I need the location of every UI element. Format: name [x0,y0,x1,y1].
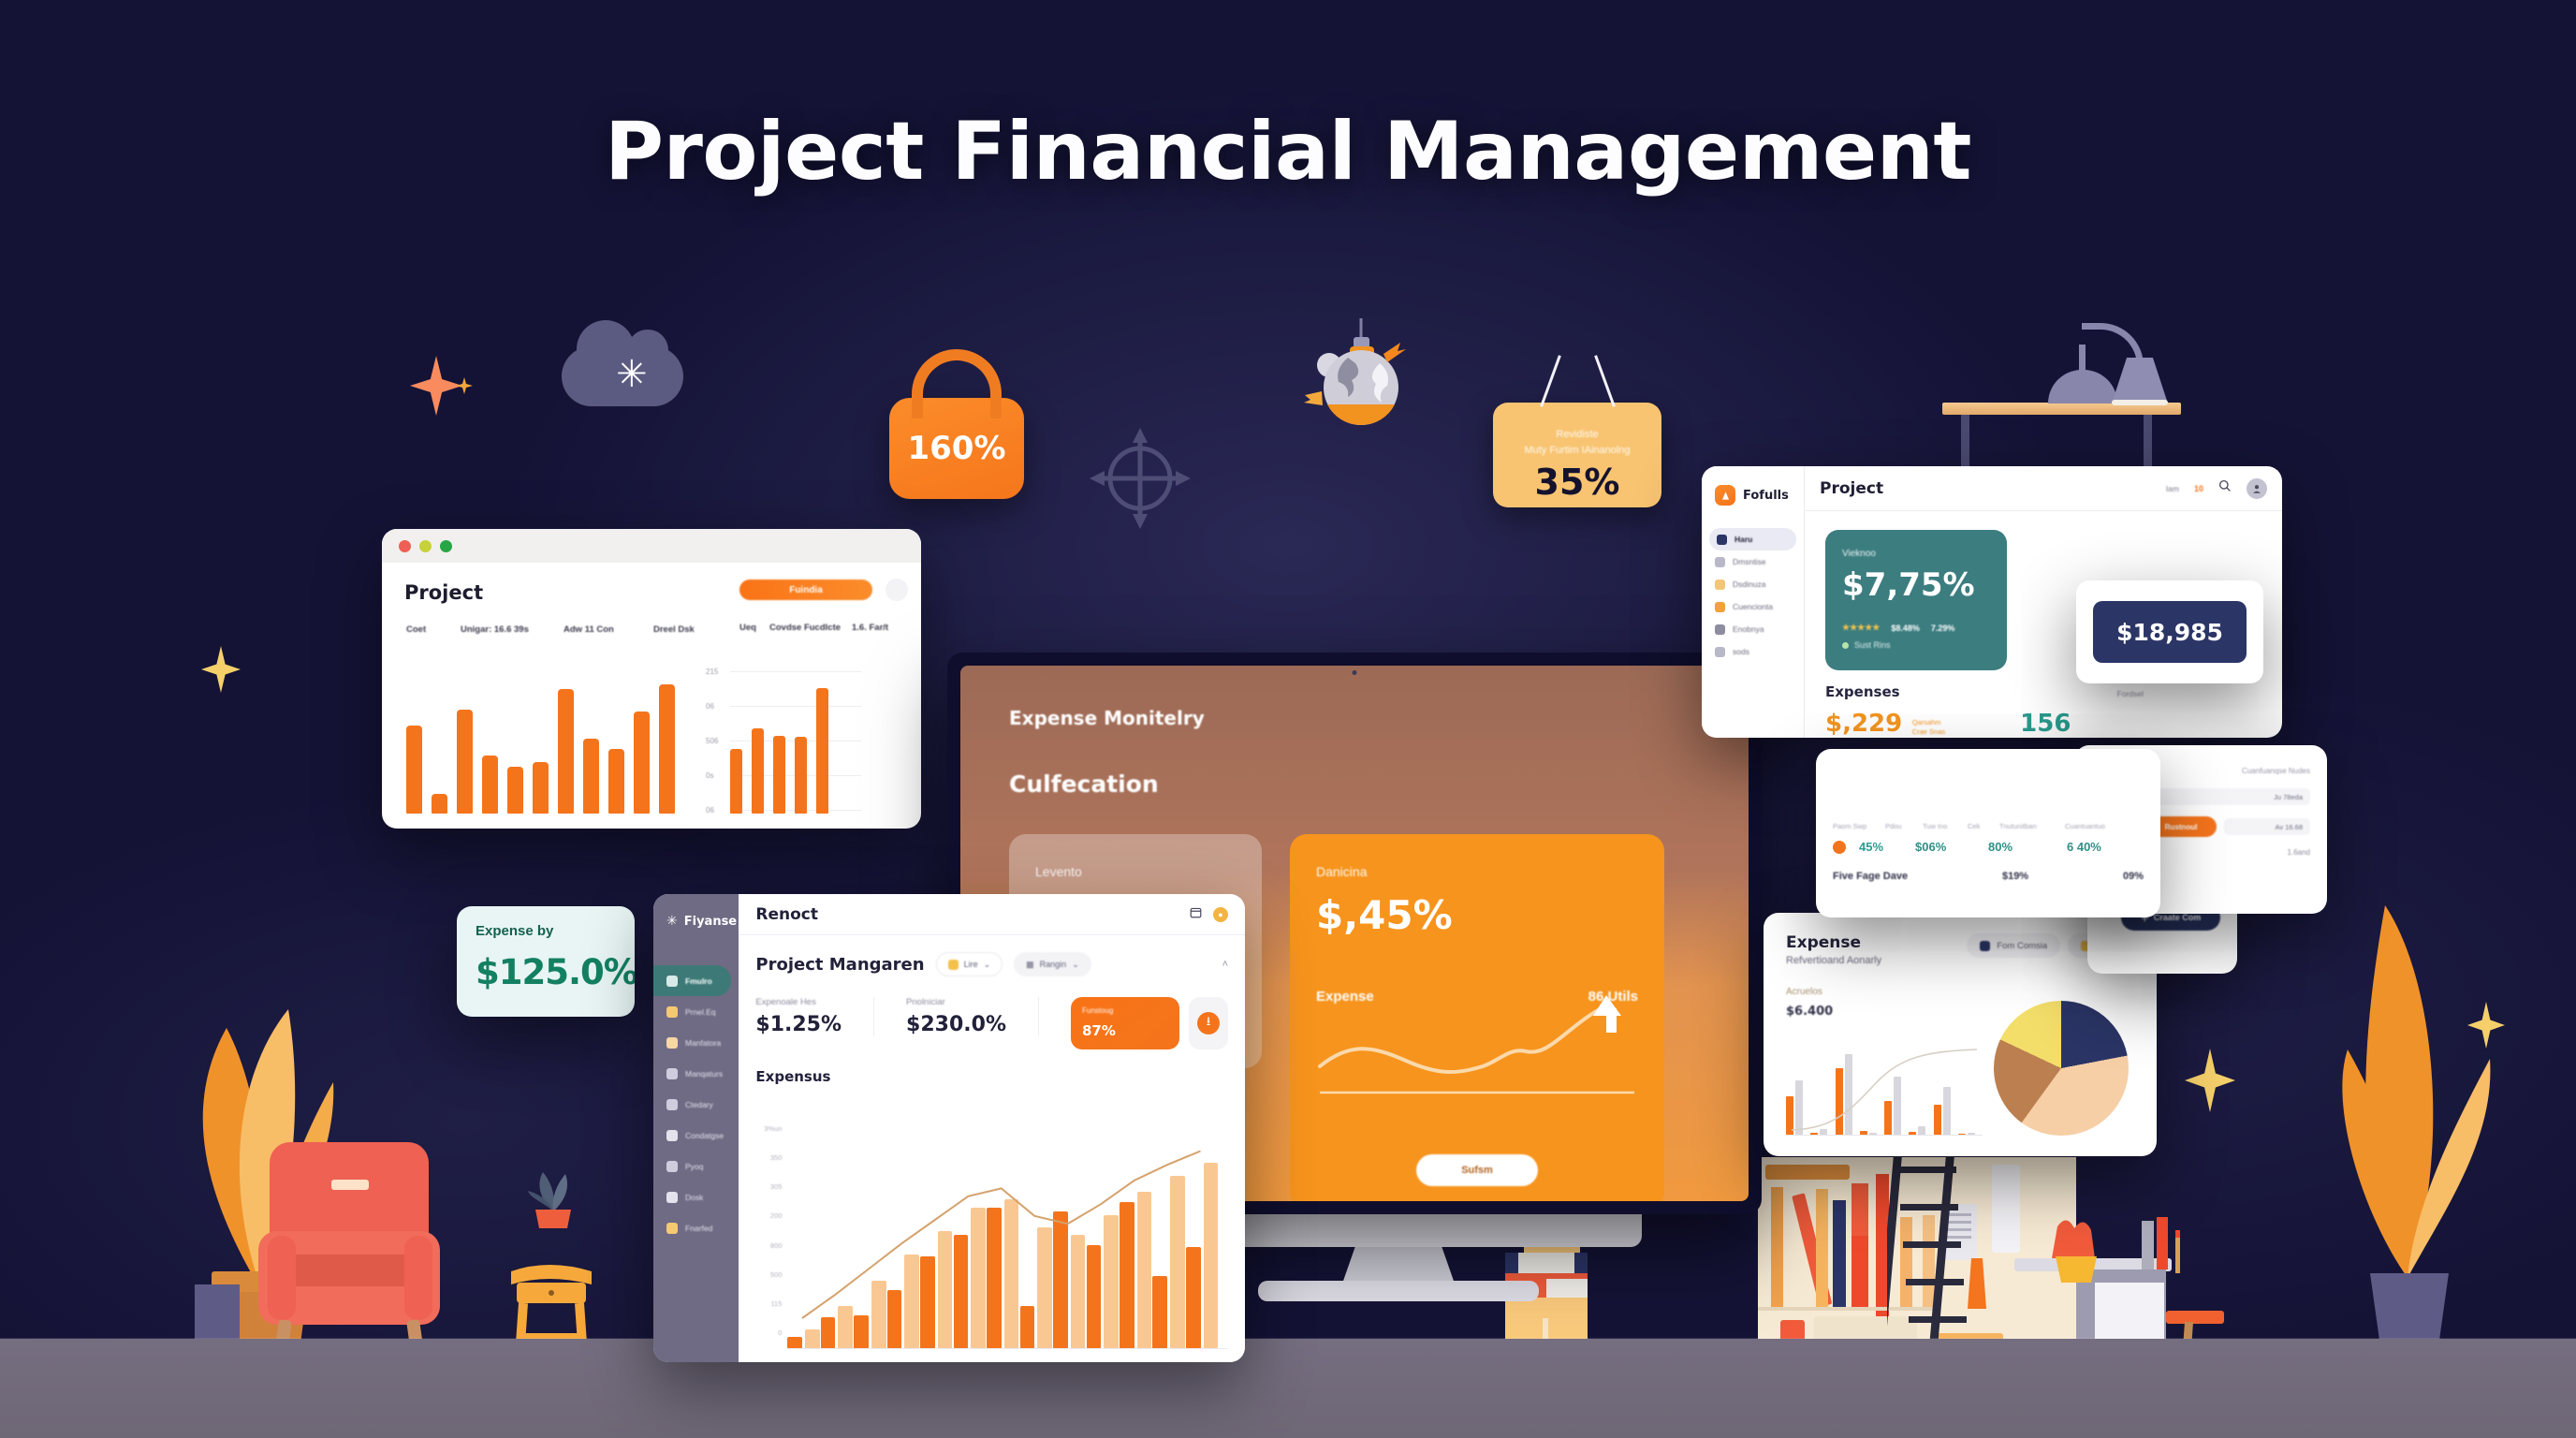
status-dot [1833,841,1846,854]
mac-window-card[interactable]: Project Fuindia Coet Unigar: 16.6 39s Ad… [382,529,921,829]
floor [0,1339,2576,1438]
y-tick-label: 200 [750,1211,782,1220]
bar-Trend [1004,1199,1019,1349]
report-top-title: Renoct [755,905,818,924]
report-topbar: Renoct ● [739,894,1245,935]
sidebar-item-label: Dmsntise [1733,557,1765,566]
expense-bar-chart [1786,1046,1983,1136]
sidebar-item-label: Dsdinuza [1733,580,1765,589]
kpi-label: Expenoale Hes [755,997,842,1007]
fuindia-button[interactable]: Fuindia [739,580,872,600]
column-header: 1.6. Far/t [852,623,888,633]
y-tick-label: 3%un [750,1124,782,1133]
trend-line-chart [1316,993,1638,1115]
sidebar-item-0[interactable]: Haru [1709,528,1796,550]
report-kpis: Expenoale Hes $1.25% Pnolniciar $230.0% … [739,976,1245,1049]
create-button-label: Craate Com [2154,913,2202,922]
bar-chart-left [406,671,687,814]
download-icon: ⭳ [1197,1012,1220,1034]
sidebar-item-3[interactable]: Cuencionta [1702,595,1804,618]
potted-plant-icon [2265,885,2546,1367]
bar [432,794,447,814]
calendar-icon[interactable] [1190,906,1202,923]
report-bar-chart: 3%un3503052008005001150 [787,1124,1228,1349]
y-tick-label: 0s [706,771,713,780]
camera-icon [1353,670,1357,675]
kpi-value: $1.25% [755,1013,842,1036]
bar-Primary [1087,1245,1102,1349]
bar [583,739,599,814]
bell-icon[interactable]: ● [1213,907,1228,922]
expenses-teal-value: 156 [2020,710,2071,738]
dashboard-topbar: Project Iam 10 [1805,466,2282,511]
y-tick-label: 800 [750,1241,782,1250]
shelf-leg [2144,415,2152,471]
kpi: Expenoale Hes $1.25% [755,997,874,1036]
bar [457,710,473,814]
brand-logo[interactable]: Fofulls [1702,479,1804,511]
axis-baseline [1786,1135,1983,1136]
handbag-value: 160% [907,430,1005,467]
bar-Primary [1020,1306,1035,1349]
expense-pie-chart [1994,1001,2129,1136]
report-sidebar-item-6[interactable]: Pyoq [653,1151,739,1181]
report-sidebar-item-label: Fmulro [685,976,712,986]
report-sidebar-item-0[interactable]: Fmulro [653,965,731,996]
expenses-amber-value: $,229 [1825,710,1902,738]
imac-foot [1258,1281,1539,1301]
kpi: Pnolniciar $230.0% [906,997,1039,1036]
report-nav-icon [666,1099,678,1110]
report-sidebar-item-8[interactable]: Fnarfed [653,1212,739,1243]
bar-Trend [1170,1176,1185,1349]
nav-item-icon [1715,557,1725,567]
highlight-stat-2: 7.29% [1931,624,1955,633]
column-header: Dreel Dsk [653,624,695,635]
sidebar-item-label: sods [1733,647,1749,656]
y-tick-label: 350 [750,1153,782,1162]
small-plant-icon [520,1163,586,1228]
pie-panel-title: Expense [1786,933,1881,952]
kpi-value: $230.0% [906,1013,1006,1036]
pie-panel-subtitle: Refvertioand Aonarly [1786,955,1881,966]
bar-chart-right: 215065060s06 [730,671,861,814]
gridline [730,671,861,672]
expense-by-value: $125.0% [476,952,616,992]
mac-window-body: Project Fuindia Coet Unigar: 16.6 39s Ad… [382,563,921,829]
bar [659,684,675,814]
legend-label: Fom Comsia [1997,941,2047,951]
bar [773,736,785,814]
expenses-right-label: Fordsel [2117,689,2144,698]
handbag-badge: 160% [889,398,1024,499]
navy-total-value: $18,985 [2093,601,2247,663]
axis-baseline [787,1348,1228,1349]
bar-Trend [1204,1163,1219,1350]
bar [816,688,828,814]
bar [558,689,574,814]
report-sidebar-item-label: Manqaturs [685,1069,723,1078]
more-options-icon[interactable] [885,579,908,601]
dashboard-nav: HaruDmsntiseDsdinuzaCuenciontaEnobnyasod… [1702,528,1804,663]
tag-value: 35% [1493,462,1661,503]
sidebar-item-label: Haru [1734,535,1752,544]
bar-Primary [1120,1202,1134,1350]
crosshair-icon [1088,426,1193,531]
bar-Primary [1152,1276,1167,1349]
fridily-row-value: 1.6and [2288,848,2310,857]
y-tick-label: 305 [750,1182,782,1191]
dashboard-title: Project [1820,479,1883,498]
bar-Trend [1071,1235,1086,1349]
sufsm-button[interactable]: Sufsm [1416,1154,1538,1186]
shelf-leg [1961,415,1969,471]
bar-Trend [971,1208,986,1349]
y-tick-label: 215 [706,668,718,676]
bar [752,728,764,814]
report-sidebar-item-7[interactable]: Dosk [653,1181,739,1212]
chevron-up-icon[interactable]: ˄ [1222,959,1228,970]
report-sidebar-item-4[interactable]: Ctedary [653,1089,739,1120]
expenses-note-1: Qarsahm [1912,718,1941,726]
column-header: Ueq [739,623,756,633]
report-nav-icon [666,1037,678,1049]
bar [634,712,650,814]
expenses-table-card: Paom Swp Pdou Tuw Ino Cek Tnutunitban Cu… [1816,749,2160,917]
topbar-item[interactable]: Iam [2166,484,2179,493]
bar-Primary [854,1315,869,1349]
report-sidebar-item-5[interactable]: Condatgse [653,1120,739,1151]
report-chart-title: Expensus [739,1049,1245,1085]
sparkle-logo-icon: ✳ [666,914,678,929]
bar-Primary [954,1235,969,1349]
ladder-icon [1887,1144,1971,1369]
sidebar-item-label: Enobnya [1733,624,1764,634]
report-nav-icon [666,1006,678,1018]
monitor-card-right: Danicina $,45% Expense 86 Utils Sufsm [1290,834,1664,1201]
bar-Trend [904,1255,919,1349]
minimize-icon[interactable] [419,540,432,552]
report-nav-icon [666,1192,678,1203]
report-sidebar-item-3[interactable]: Manqaturs [653,1058,739,1089]
screen-heading: Expense Monitelry [1009,707,1205,729]
report-nav-icon [666,1223,678,1234]
cell: 09% [2123,871,2144,882]
report-sidebar: ✳ Fiyanse FmulroPrnel.EqManfatoraManqatu… [653,894,739,1362]
chevron-down-icon: ⌄ [984,960,991,970]
expense-by-label: Expense by [476,923,616,939]
navy-total-card: $18,985 [2076,580,2263,683]
fridily-row-value: Av 16.68 [2224,818,2310,835]
bar [608,749,624,814]
select-value: Rangin [1040,960,1067,969]
y-tick-label: 06 [706,806,714,814]
search-icon[interactable] [2218,479,2232,497]
bar [533,762,549,814]
bar-Trend [838,1306,853,1349]
legend-swatch [1980,941,1990,951]
status-dot [1842,642,1849,649]
report-sidebar-item-2[interactable]: Manfatora [653,1027,739,1058]
kpi-label: Pnolniciar [906,997,1006,1007]
tag-line-2: Muty Furtim IAinanolng [1493,443,1661,459]
y-tick-label: 06 [706,702,714,711]
report-main: Renoct ● Project Mangaren Lire ⌄ ▦ R [739,894,1245,1362]
bar-Trend [1037,1227,1052,1349]
select-range[interactable]: ▦ Rangin ⌄ [1014,952,1091,976]
chevron-down-icon: ⌄ [1072,960,1079,970]
y-tick-label: 500 [750,1270,782,1279]
bar-Primary [821,1317,836,1349]
sidebar-item-4[interactable]: Enobnya [1702,618,1804,640]
screen-subheading: Culfecation [1009,770,1159,798]
desk-lamp-glow [2112,400,2168,405]
bar-Primary [1186,1247,1201,1349]
report-brand[interactable]: ✳ Fiyanse [653,907,739,935]
column-header: Covdse Fucdlcte [769,623,841,633]
sidebar-item-label: Cuencionta [1733,602,1773,611]
illustration-scene: Project Financial Management ✳ 160% [0,0,2576,1438]
app-logo-icon [1715,485,1735,506]
bar-Primary [1053,1211,1068,1349]
column-header: Adw 11 Con [563,624,614,635]
highlight-value: $7,75% [1842,566,1990,604]
nav-item-icon [1717,535,1727,545]
bar-Primary [920,1256,935,1349]
expenses-block: Expenses Fordsel $,229 Qarsahm Crae Snas… [1825,683,2144,738]
report-sidebar-item-label: Manfatora [685,1038,721,1048]
card-value: $,45% [1316,892,1638,938]
gridline [730,706,861,707]
pie-panel-side-label: Acruelos [1786,987,2134,997]
bar [482,756,498,814]
avatar-icon[interactable] [2247,478,2267,499]
report-brand-name: Fiyanse [684,915,737,929]
fridily-subtitle: Cuanfuanqse Nudes [2242,767,2310,775]
column-header: Unigar: 16.6 39s [461,624,529,635]
nav-item-icon [1715,624,1725,635]
report-nav-icon [666,1068,678,1079]
report-sidebar-item-label: Fnarfed [685,1224,712,1233]
page-title: Project Financial Management [0,105,2576,198]
highlight-label: Vieknoo [1842,549,1990,559]
report-sidebar-item-label: Ctedary [685,1100,713,1109]
highlight-card: Vieknoo $7,75% ★★★★★ $8.48% 7.29% Sust R… [1825,530,2007,670]
cell: Five Fage Dave [1833,871,1908,882]
cell: 80% [1988,840,2054,854]
y-tick-label: 506 [706,737,718,745]
expenses-title: Expenses [1825,683,1900,700]
cell: 45% [1859,840,1902,854]
notification-badge[interactable]: 10 [2194,484,2203,493]
grid-icon: ▦ [1026,960,1034,970]
bar-Primary [887,1290,902,1349]
bar-Trend [805,1329,820,1349]
fridily-row-value: Ju 78eda [2145,788,2310,805]
report-sidebar-item-label: Pyoq [685,1162,703,1171]
y-tick-label: 0 [750,1328,782,1337]
select-line[interactable]: Lire ⌄ [936,952,1003,976]
column-header: Coet [406,624,426,635]
cell: $06% [1915,840,1975,854]
report-panel[interactable]: ✳ Fiyanse FmulroPrnel.EqManfatoraManqatu… [653,894,1245,1362]
bar [795,737,807,814]
bar-Trend [1137,1192,1152,1349]
table-row: 45% $06% 80% 6 40% [1833,840,2144,854]
legend-chip[interactable]: Fom Comsia [1967,933,2060,958]
report-sidebar-item-label: Condatgse [685,1131,724,1140]
nav-item-icon [1715,602,1725,612]
mac-titlebar [382,529,921,563]
brand-name: Fofulls [1743,489,1789,503]
y-tick-label: 115 [750,1299,782,1308]
sidebar-item-5[interactable]: sods [1702,640,1804,663]
maximize-icon[interactable] [440,540,452,552]
expense-by-card: Expense by $125.0% [457,906,635,1017]
sidebar-item-1[interactable]: Dmsntise [1702,550,1804,573]
cta-value: 87% [1082,1022,1168,1039]
card-label: Levento [1035,864,1236,879]
cell: 6 40% [2067,840,2101,854]
dashboard-sidebar: Fofulls HaruDmsntiseDsdinuzaCuenciontaEn… [1702,466,1805,738]
report-nav-icon [666,1161,678,1172]
nav-item-icon [1715,580,1725,590]
report-sidebar-item-label: Dosk [685,1193,703,1202]
report-header-row: Project Mangaren Lire ⌄ ▦ Rangin ⌄ ˄ [739,935,1245,976]
report-page-title: Project Mangaren [755,955,924,975]
bar [730,749,742,814]
globe-icon [1294,318,1406,459]
table-row: Five Fage Dave $19% 09% [1833,871,2144,882]
bar-Primary [987,1208,1002,1349]
cell: $19% [2002,871,2028,882]
report-sidebar-item-1[interactable]: Prnel.Eq [653,996,739,1027]
expenses-table-headers: Paom Swp Pdou Tuw Ino Cek Tnutunitban Cu… [1833,822,2144,830]
sidebar-item-2[interactable]: Dsdinuza [1702,573,1804,595]
close-icon[interactable] [399,540,411,552]
hanging-tag-badge: Revidiste Muty Furtim IAinanolng 35% [1493,403,1661,507]
highlight-stars: ★★★★★ [1842,623,1880,633]
report-nav-icon [666,1130,678,1141]
download-button[interactable]: ⭳ [1189,997,1228,1049]
bar-Trend [871,1281,886,1350]
asterisk-icon: ✳ [616,356,648,393]
highlight-footer: Sust Rins [1854,640,1891,650]
bar-Trend [1104,1215,1119,1349]
card-label: Danicina [1316,864,1638,879]
cloud-icon: ✳ [562,346,683,406]
report-nav: FmulroPrnel.EqManfatoraManqatursCtedaryC… [653,965,739,1243]
select-swatch [948,960,959,970]
report-nav-icon [666,976,678,987]
bar [406,726,422,814]
funstoug-cta[interactable]: Funstoug 87% [1071,997,1179,1049]
expenses-note-2: Crae Snas [1912,727,1945,736]
tag-line-1: Revidiste [1493,427,1661,443]
trend-curve [1786,1046,1983,1136]
bar [507,767,523,814]
nav-item-icon [1715,647,1725,657]
bar-Trend [938,1231,953,1349]
report-sidebar-item-label: Prnel.Eq [685,1007,716,1017]
cta-label: Funstoug [1082,1006,1168,1015]
select-value: Lire [964,960,978,969]
highlight-stat-1: $8.48% [1891,624,1920,633]
